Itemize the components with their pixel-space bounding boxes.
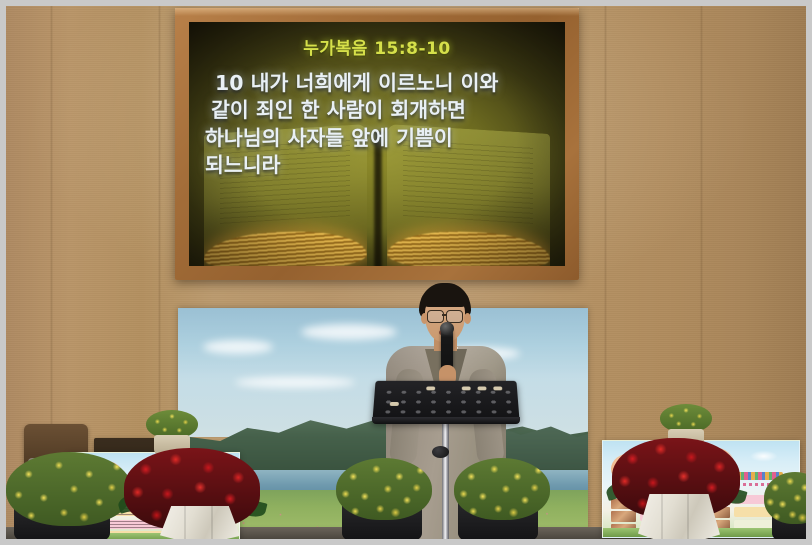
- flower-wrapping-right: [638, 494, 720, 539]
- photo-border: 누가복음 15:8-10 10 내가 너희에게 이르노니 이와 같이 죄인 한 …: [0, 0, 812, 545]
- verse-line: 하나님의 사자들 앞에 기쁨이: [205, 125, 549, 152]
- verse-line: 되느니라: [205, 152, 549, 179]
- wrap-fold: [211, 506, 213, 539]
- sanctuary-photo: 누가복음 15:8-10 10 내가 너희에게 이르노니 이와 같이 죄인 한 …: [6, 6, 806, 539]
- music-stand: [374, 380, 518, 539]
- eyeglasses-lens-right: [446, 310, 463, 323]
- chrysanthemum-blooms: [6, 452, 132, 526]
- wrap-fold: [184, 506, 186, 539]
- stand-highlight: [493, 387, 502, 391]
- wrap-fold: [661, 494, 663, 539]
- stand-lip: [372, 417, 520, 424]
- stand-desk: [372, 381, 519, 422]
- eyeglasses-bridge: [442, 314, 446, 316]
- stand-perforations: [380, 387, 512, 414]
- verse-body: 10 내가 너희에게 이르노니 이와 같이 죄인 한 사람이 회개하면 하나님의…: [205, 70, 549, 179]
- stand-height-knob: [432, 446, 449, 458]
- preacher-hair-fringe: [421, 288, 469, 307]
- screen-surface: 누가복음 15:8-10 10 내가 너희에게 이르노니 이와 같이 죄인 한 …: [189, 22, 565, 266]
- verse-line: 10 내가 너희에게 이르노니 이와: [205, 70, 549, 97]
- chrysanthemum-blooms: [764, 472, 806, 524]
- scripture-reference: 누가복음 15:8-10: [205, 34, 549, 59]
- chrysanthemum-left: [6, 452, 132, 526]
- stand-highlight: [426, 387, 435, 391]
- flower-wrapping-left: [160, 506, 240, 539]
- chrysanthemum-right: [764, 472, 806, 524]
- stand-pole: [442, 420, 449, 539]
- microphone-head: [440, 322, 454, 335]
- verse-line: 같이 죄인 한 사람이 회개하면: [205, 97, 549, 124]
- eyeglasses-lens-left: [427, 310, 444, 323]
- stand-highlight: [390, 402, 399, 406]
- stand-highlight: [462, 387, 471, 391]
- preacher-ear: [464, 313, 471, 324]
- wrap-fold: [687, 494, 689, 539]
- slide-text-block: 누가복음 15:8-10 10 내가 너희에게 이르노니 이와 같이 죄인 한 …: [189, 22, 565, 179]
- projection-screen: 누가복음 15:8-10 10 내가 너희에게 이르노니 이와 같이 죄인 한 …: [175, 8, 579, 280]
- frame-highlight: [175, 8, 579, 16]
- stand-highlight: [477, 387, 486, 391]
